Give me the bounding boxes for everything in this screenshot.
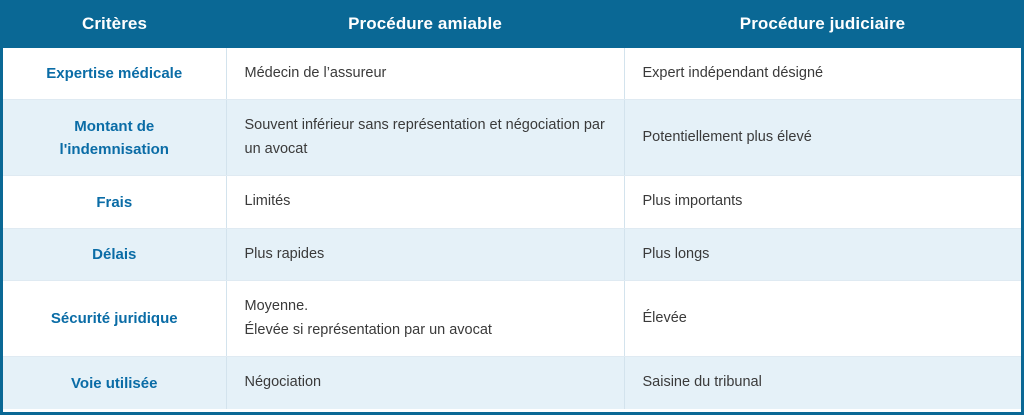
procedure-judiciaire-cell: Élevée: [624, 281, 1021, 357]
procedure-amiable-cell: Souvent inférieur sans représentation et…: [226, 100, 624, 176]
cell-line: Montant de: [15, 115, 214, 138]
criteria-cell: Voie utilisée: [3, 357, 226, 409]
header-row: Critères Procédure amiable Procédure jud…: [3, 0, 1021, 48]
criteria-cell: Sécurité juridique: [3, 281, 226, 357]
cell-line: Médecin de l’assureur: [245, 62, 606, 85]
cell-line: Plus importants: [643, 190, 1004, 213]
cell-line: Limités: [245, 190, 606, 213]
table-body: Expertise médicaleMédecin de l’assureurE…: [3, 48, 1021, 409]
criteria-cell: Montant del'indemnisation: [3, 100, 226, 176]
table-row: Sécurité juridiqueMoyenne.Élevée si repr…: [3, 281, 1021, 357]
procedure-amiable-cell: Limités: [226, 176, 624, 228]
cell-line: Souvent inférieur sans représentation et…: [245, 114, 606, 161]
procedure-amiable-cell: Plus rapides: [226, 228, 624, 280]
procedure-judiciaire-cell: Plus longs: [624, 228, 1021, 280]
cell-line: Expertise médicale: [15, 62, 214, 85]
cell-line: Expert indépendant désigné: [643, 62, 1004, 85]
procedure-amiable-cell: Négociation: [226, 357, 624, 409]
table-header: Critères Procédure amiable Procédure jud…: [3, 0, 1021, 48]
procedure-judiciaire-cell: Plus importants: [624, 176, 1021, 228]
cell-line: Sécurité juridique: [15, 307, 214, 330]
cell-line: Délais: [15, 243, 214, 266]
criteria-cell: Expertise médicale: [3, 48, 226, 100]
procedure-amiable-cell: Moyenne.Élevée si représentation par un …: [226, 281, 624, 357]
criteria-cell: Frais: [3, 176, 226, 228]
table-row: Voie utiliséeNégociationSaisine du tribu…: [3, 357, 1021, 409]
cell-line: Moyenne.: [245, 295, 606, 318]
procedure-judiciaire-cell: Potentiellement plus élevé: [624, 100, 1021, 176]
column-header-procedure-judiciaire: Procédure judiciaire: [624, 0, 1021, 48]
cell-line: Frais: [15, 191, 214, 214]
table-row: FraisLimitésPlus importants: [3, 176, 1021, 228]
cell-line: Élevée si représentation par un avocat: [245, 319, 606, 342]
cell-line: Potentiellement plus élevé: [643, 126, 1004, 149]
criteria-cell: Délais: [3, 228, 226, 280]
cell-line: Saisine du tribunal: [643, 371, 1004, 394]
column-header-procedure-amiable: Procédure amiable: [226, 0, 624, 48]
cell-line: l'indemnisation: [15, 138, 214, 161]
comparison-table: Critères Procédure amiable Procédure jud…: [3, 0, 1021, 409]
cell-line: Élevée: [643, 307, 1004, 330]
cell-line: Négociation: [245, 371, 606, 394]
procedure-amiable-cell: Médecin de l’assureur: [226, 48, 624, 100]
table-row: Montant del'indemnisationSouvent inférie…: [3, 100, 1021, 176]
table-row: DélaisPlus rapidesPlus longs: [3, 228, 1021, 280]
column-header-criteres: Critères: [3, 0, 226, 48]
cell-line: Plus rapides: [245, 243, 606, 266]
procedure-judiciaire-cell: Expert indépendant désigné: [624, 48, 1021, 100]
procedure-judiciaire-cell: Saisine du tribunal: [624, 357, 1021, 409]
comparison-table-container: Critères Procédure amiable Procédure jud…: [0, 0, 1024, 415]
table-row: Expertise médicaleMédecin de l’assureurE…: [3, 48, 1021, 100]
cell-line: Plus longs: [643, 243, 1004, 266]
cell-line: Voie utilisée: [15, 372, 214, 395]
